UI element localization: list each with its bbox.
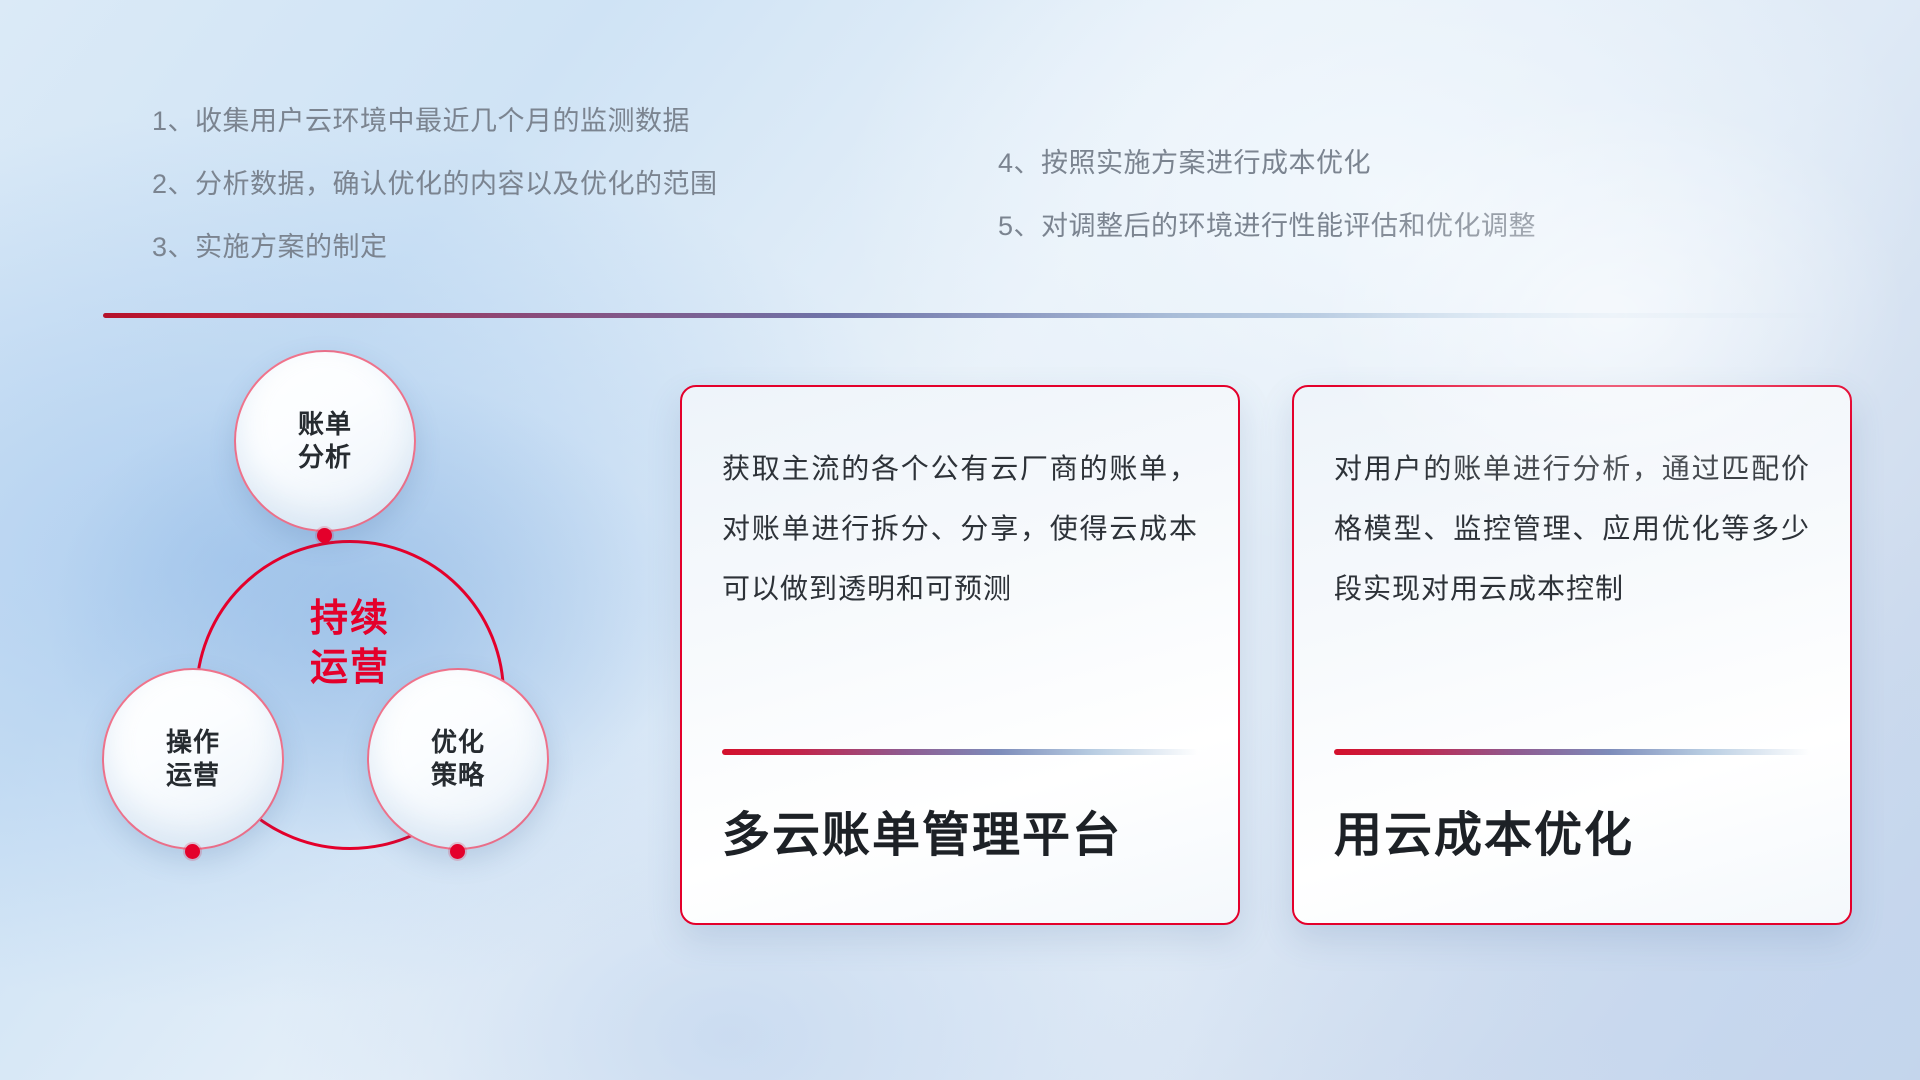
- center-label-line1: 持续: [195, 595, 505, 644]
- card-divider: [722, 749, 1198, 755]
- card-title: 多云账单管理平台: [722, 795, 1122, 865]
- card-body-text: 对用户的账单进行分析，通过匹配价格模型、监控管理、应用优化等多少段实现对用云成本…: [1334, 439, 1810, 620]
- bubble-label-line2: 分析: [298, 441, 352, 474]
- connector-dot-icon: [450, 844, 465, 859]
- slide-background: 1、收集用户云环境中最近几个月的监测数据 2、分析数据，确认优化的内容以及优化的…: [0, 0, 1920, 1080]
- bubble-label-line2: 策略: [431, 759, 485, 792]
- step-item: 4、按照实施方案进行成本优化: [998, 150, 1536, 177]
- step-item: 5、对调整后的环境进行性能评估和优化调整: [998, 213, 1536, 240]
- card-divider: [1334, 749, 1810, 755]
- step-item: 3、实施方案的制定: [152, 234, 718, 261]
- steps-right-column: 4、按照实施方案进行成本优化 5、对调整后的环境进行性能评估和优化调整: [998, 150, 1536, 276]
- bubble-operations[interactable]: 操作 运营: [102, 668, 284, 850]
- card-title: 用云成本优化: [1334, 795, 1634, 865]
- connector-dot-icon: [317, 528, 332, 543]
- bubble-bill-analysis[interactable]: 账单 分析: [234, 350, 416, 532]
- step-item: 2、分析数据，确认优化的内容以及优化的范围: [152, 171, 718, 198]
- bubble-label-line1: 账单: [298, 408, 352, 441]
- steps-left-column: 1、收集用户云环境中最近几个月的监测数据 2、分析数据，确认优化的内容以及优化的…: [152, 108, 718, 297]
- bubble-label-line1: 操作: [166, 726, 220, 759]
- step-item: 1、收集用户云环境中最近几个月的监测数据: [152, 108, 718, 135]
- card-body-text: 获取主流的各个公有云厂商的账单，对账单进行拆分、分享，使得云成本可以做到透明和可…: [722, 439, 1198, 620]
- continuous-operation-diagram: 持续 运营 账单 分析 操作 运营 优化 策略: [95, 350, 635, 950]
- bubble-label-line1: 优化: [431, 726, 485, 759]
- bubble-label-line2: 运营: [166, 759, 220, 792]
- card-multicloud-billing[interactable]: 获取主流的各个公有云厂商的账单，对账单进行拆分、分享，使得云成本可以做到透明和可…: [680, 385, 1240, 925]
- card-cloud-cost-optimization[interactable]: 对用户的账单进行分析，通过匹配价格模型、监控管理、应用优化等多少段实现对用云成本…: [1292, 385, 1852, 925]
- section-divider: [103, 313, 1831, 318]
- bubble-optimization-strategy[interactable]: 优化 策略: [367, 668, 549, 850]
- connector-dot-icon: [185, 844, 200, 859]
